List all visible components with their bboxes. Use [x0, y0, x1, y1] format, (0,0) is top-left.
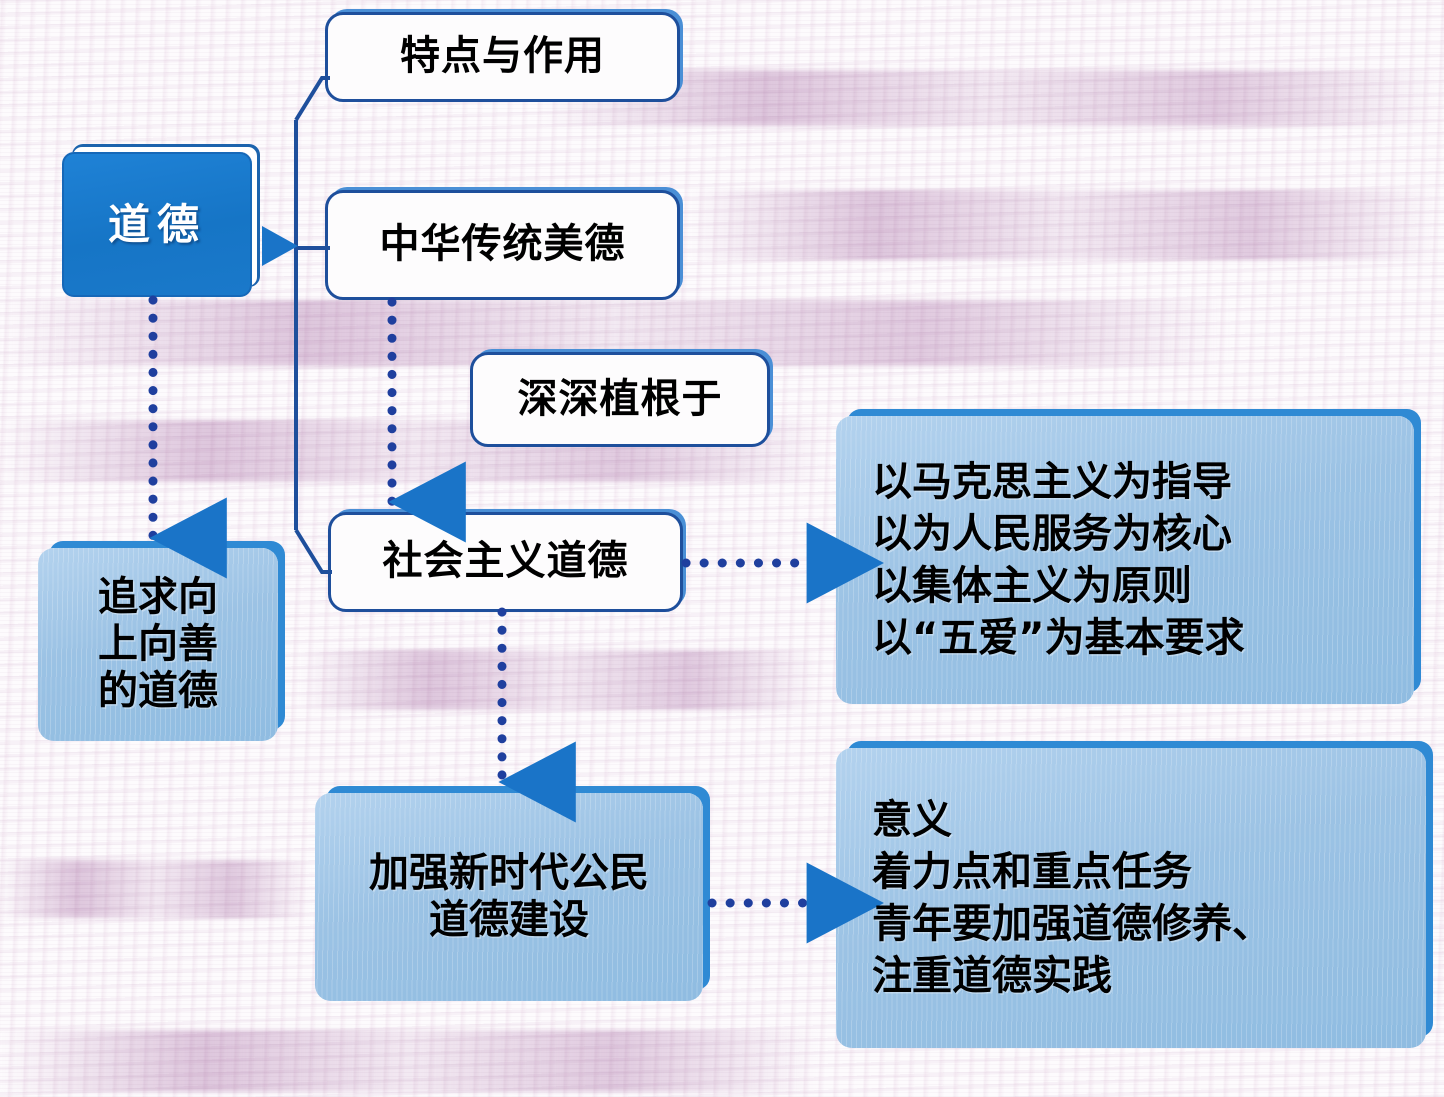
node-socialist-morality[interactable]: 社会主义道德	[328, 512, 683, 612]
node-feature-and-role[interactable]: 特点与作用	[325, 12, 680, 102]
node-deeply-rooted-in[interactable]: 深深植根于	[470, 352, 770, 447]
node-socialist-principles[interactable]: 以马克思主义为指导 以为人民服务为核心 以集体主义为原则 以“五爱”为基本要求	[836, 416, 1414, 704]
bracket-connector	[296, 78, 332, 572]
node-label: 意义 着力点和重点任务 青年要加强道德修养、 注重道德实践	[872, 794, 1272, 1002]
node-morality-root[interactable]: 道德	[62, 152, 252, 297]
node-label: 道德	[108, 200, 206, 250]
node-label: 社会主义道德	[383, 538, 629, 585]
node-label: 特点与作用	[400, 33, 605, 80]
node-significance[interactable]: 意义 着力点和重点任务 青年要加强道德修养、 注重道德实践	[836, 748, 1426, 1048]
bleed-row	[300, 650, 820, 710]
node-chinese-traditional-virtue[interactable]: 中华传统美德	[325, 190, 680, 300]
node-strengthen-citizen-morality[interactable]: 加强新时代公民 道德建设	[315, 793, 703, 1001]
node-label: 中华传统美德	[380, 221, 626, 268]
node-label: 以马克思主义为指导 以为人民服务为核心 以集体主义为原则 以“五爱”为基本要求	[872, 456, 1245, 664]
node-label: 追求向 上向善 的道德	[98, 574, 218, 716]
node-label: 深深植根于	[518, 376, 723, 423]
node-label: 加强新时代公民 道德建设	[369, 850, 649, 944]
bleed-row	[690, 190, 1440, 260]
bleed-row	[0, 860, 310, 918]
diagram-canvas: 特点与作用 道德 中华传统美德 深深植根于 社会主义道德 追求向 上向善 的道德…	[0, 0, 1444, 1097]
node-pursuit-of-upward-goodness[interactable]: 追求向 上向善 的道德	[38, 548, 278, 741]
bleed-row	[0, 1030, 820, 1092]
